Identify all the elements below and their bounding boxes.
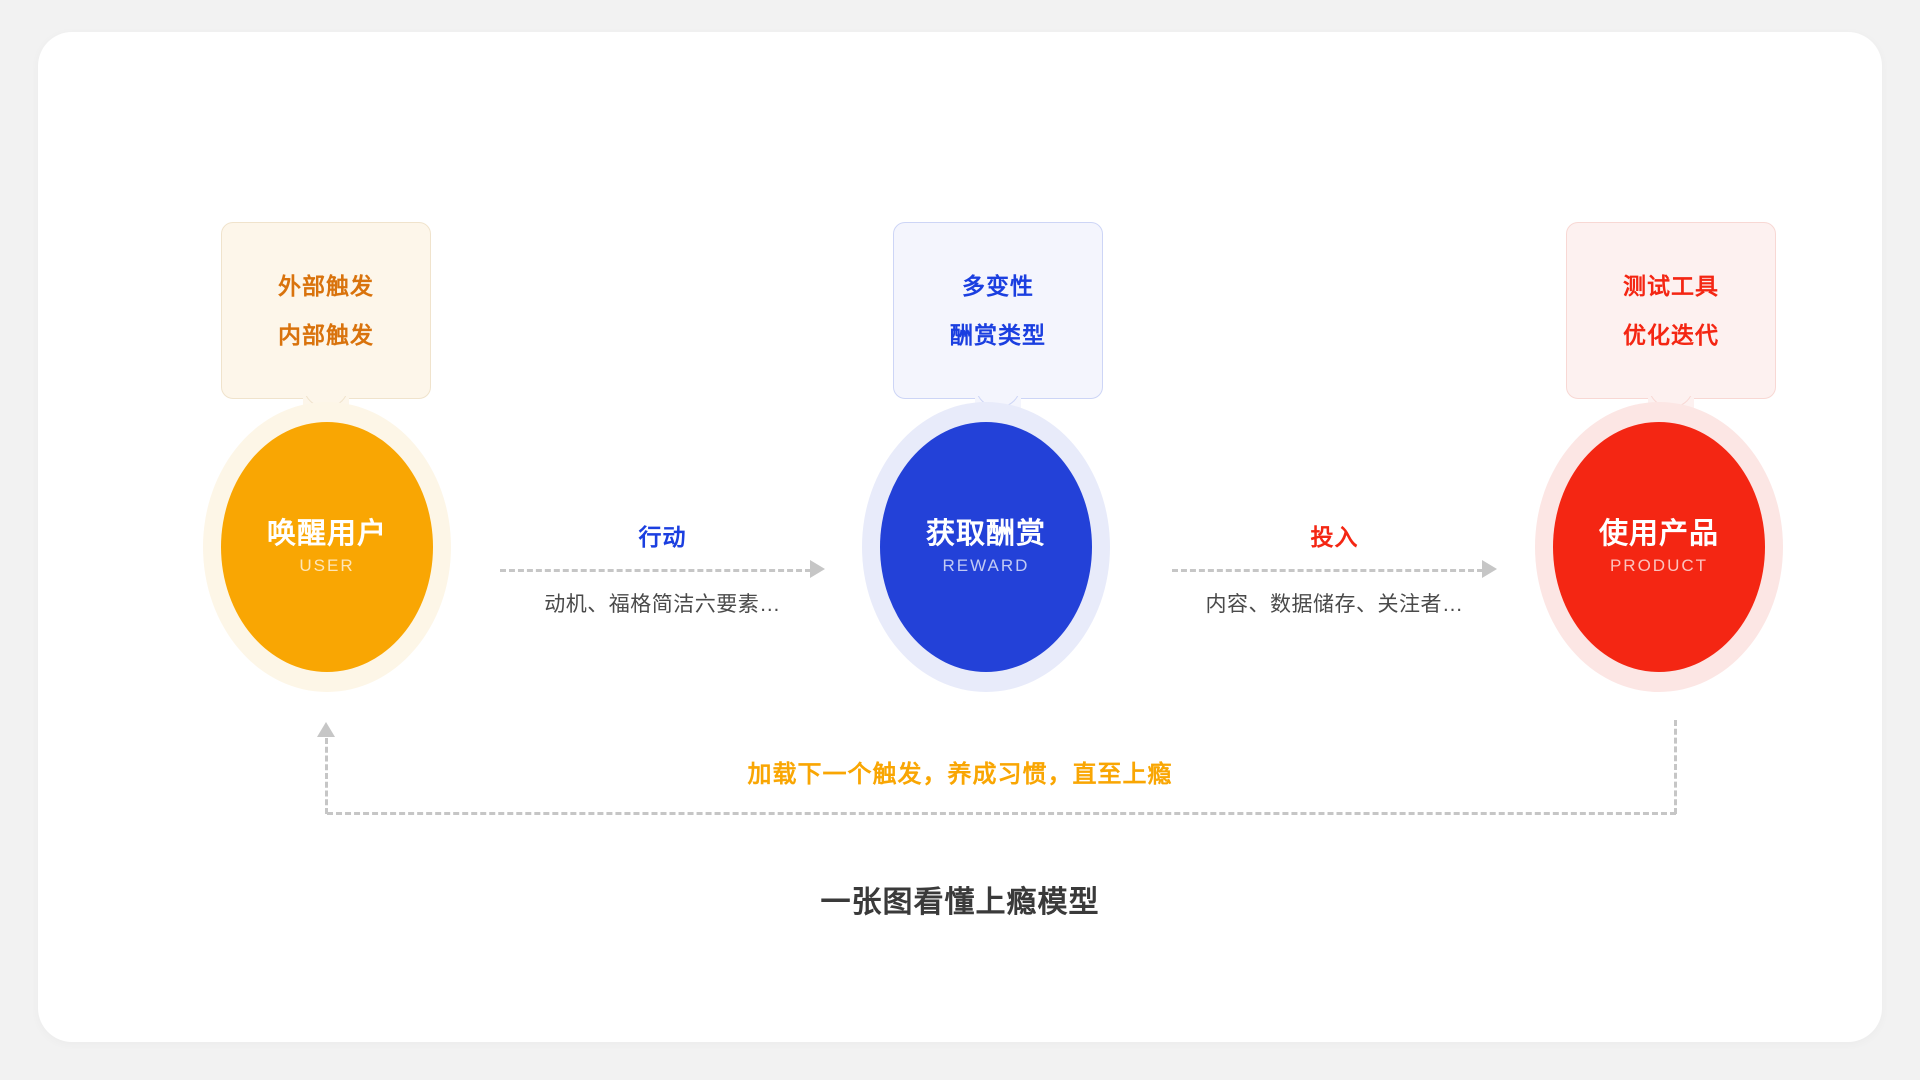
- figure-title: 一张图看懂上瘾模型: [38, 877, 1882, 921]
- callout-iterate-line-1: 测试工具: [1623, 275, 1719, 298]
- callout-iterate: 测试工具 优化迭代: [1566, 222, 1776, 399]
- diagram-card: 外部触发 内部触发 多变性 酬赏类型 测试工具 优化迭代 唤醒用户 USER 获…: [38, 32, 1882, 1042]
- node-product-disc: 使用产品 PRODUCT: [1553, 422, 1765, 672]
- loop-label: 加载下一个触发，养成习惯，直至上瘾: [38, 754, 1882, 789]
- connector-action-label: 行动: [500, 518, 825, 552]
- node-reward-disc: 获取酬赏 REWARD: [880, 422, 1092, 672]
- node-reward-subtitle: REWARD: [943, 557, 1030, 574]
- node-reward-title: 获取酬赏: [926, 520, 1046, 549]
- connector-investment-label: 投入: [1172, 518, 1497, 552]
- callout-variable-reward-line-1: 多变性: [962, 275, 1034, 298]
- callout-variable-reward-line-2: 酬赏类型: [950, 324, 1046, 347]
- callout-iterate-line-2: 优化迭代: [1623, 324, 1719, 347]
- node-user-title: 唤醒用户: [267, 520, 387, 549]
- node-user: 唤醒用户 USER: [203, 402, 451, 692]
- node-product: 使用产品 PRODUCT: [1535, 402, 1783, 692]
- node-user-subtitle: USER: [299, 557, 354, 574]
- connector-investment-sublabel: 内容、数据储存、关注者…: [1172, 588, 1497, 618]
- connector-action-line: [500, 569, 811, 572]
- arrow-right-icon: [810, 560, 825, 578]
- node-product-subtitle: PRODUCT: [1610, 557, 1708, 574]
- connector-investment-line: [1172, 569, 1483, 572]
- connector-action-sublabel: 动机、福格简洁六要素…: [500, 588, 825, 618]
- loop-segment-bottom: [327, 812, 1676, 815]
- arrow-up-icon: [317, 722, 335, 737]
- node-product-title: 使用产品: [1599, 520, 1719, 549]
- callout-trigger-line-2: 内部触发: [278, 324, 374, 347]
- callout-variable-reward: 多变性 酬赏类型: [893, 222, 1103, 399]
- connector-action: 行动 动机、福格简洁六要素…: [500, 560, 825, 578]
- arrow-right-icon: [1482, 560, 1497, 578]
- node-user-disc: 唤醒用户 USER: [221, 422, 433, 672]
- callout-trigger: 外部触发 内部触发: [221, 222, 431, 399]
- diagram-canvas: 外部触发 内部触发 多变性 酬赏类型 测试工具 优化迭代 唤醒用户 USER 获…: [0, 0, 1920, 1080]
- node-reward: 获取酬赏 REWARD: [862, 402, 1110, 692]
- callout-trigger-line-1: 外部触发: [278, 275, 374, 298]
- connector-investment: 投入 内容、数据储存、关注者…: [1172, 560, 1497, 578]
